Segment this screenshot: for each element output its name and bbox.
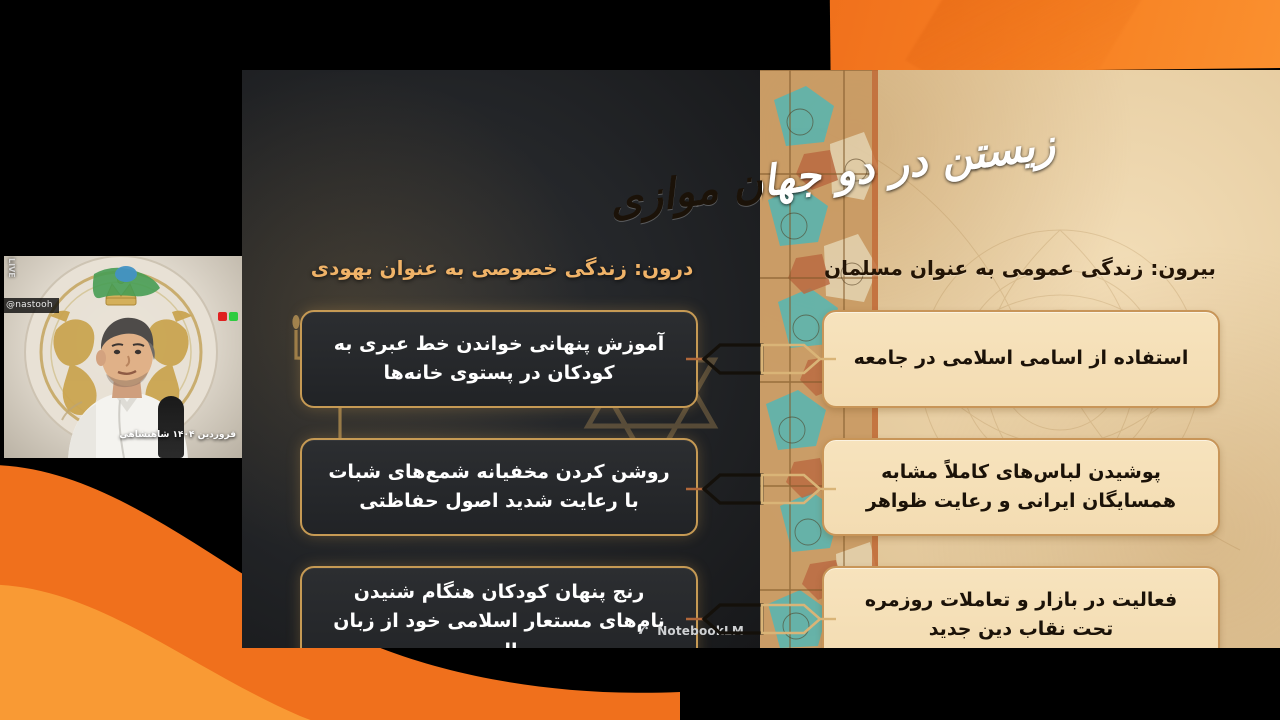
notebooklm-label: NotebookLM xyxy=(657,624,744,638)
left-card-2[interactable]: پوشیدن لباس‌های کاملاً مشابه همسایگان ای… xyxy=(822,438,1220,536)
right-card-column: آموزش پنهانی خواندن خط عبری به کودکان در… xyxy=(300,310,698,648)
orange-banner-top xyxy=(829,0,1280,73)
notebooklm-watermark: NotebookLM xyxy=(637,624,744,638)
left-card-3[interactable]: فعالیت در بازار و تعاملات روزمره تحت نقا… xyxy=(822,566,1220,648)
microphone-icon xyxy=(158,396,184,458)
left-card-1[interactable]: استفاده از اسامی اسلامی در جامعه xyxy=(822,310,1220,408)
left-card-column: استفاده از اسامی اسلامی در جامعه پوشیدن … xyxy=(822,310,1220,648)
left-panel-subtitle: بیرون: زندگی عمومی به عنوان مسلمان xyxy=(800,256,1240,280)
webcam-handle: @nastooh xyxy=(0,298,59,313)
slide-right-panel: درون: زندگی خصوصی به عنوان یهودی آموزش پ… xyxy=(242,70,760,648)
live-green-dot xyxy=(229,312,238,321)
webcam-video: LIVE @nastooh فروردین ۱۴۰۴ شاهنشاهی xyxy=(0,256,242,458)
presentation-slide: بیرون: زندگی عمومی به عنوان مسلمان استفا… xyxy=(242,70,1280,648)
slide-left-panel: بیرون: زندگی عمومی به عنوان مسلمان استفا… xyxy=(760,70,1280,648)
notebooklm-icon xyxy=(637,624,651,638)
webcam-left-edge xyxy=(0,256,4,458)
right-card-2[interactable]: روشن کردن مخفیانه شمع‌های شبات با رعایت … xyxy=(300,438,698,536)
live-indicator xyxy=(218,312,238,321)
right-panel-subtitle: درون: زندگی خصوصی به عنوان یهودی xyxy=(282,256,722,280)
webcam-overlay[interactable]: LIVE @nastooh فروردین ۱۴۰۴ شاهنشاهی xyxy=(0,256,242,458)
stream-canvas: بیرون: زندگی عمومی به عنوان مسلمان استفا… xyxy=(0,0,1280,720)
right-card-1[interactable]: آموزش پنهانی خواندن خط عبری به کودکان در… xyxy=(300,310,698,408)
webcam-date-caption: فروردین ۱۴۰۴ شاهنشاهی xyxy=(119,430,236,440)
live-red-dot xyxy=(218,312,227,321)
